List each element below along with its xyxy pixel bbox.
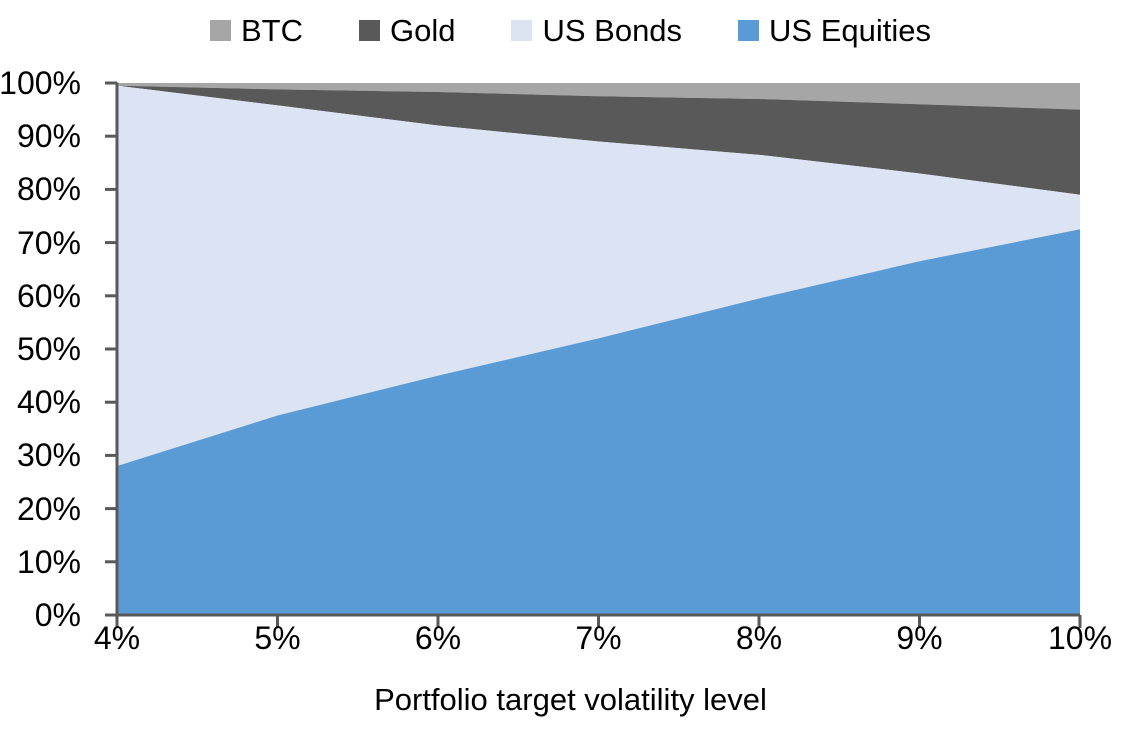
y-axis-tick-label-70: 70% <box>17 227 81 259</box>
x-axis-tick-label-4: 4% <box>94 622 140 654</box>
legend-item-us-equities[interactable]: US Equities <box>738 15 931 46</box>
x-axis-tick-label-8: 8% <box>736 622 782 654</box>
stacked-area-plot <box>0 52 1141 742</box>
chart-legend: BTCGoldUS BondsUS Equities <box>0 8 1141 52</box>
legend-label-us-equities: US Equities <box>769 15 931 46</box>
y-axis-tick-label-80: 80% <box>17 173 81 205</box>
x-axis-tick-label-6: 6% <box>415 622 461 654</box>
legend-item-btc[interactable]: BTC <box>210 15 303 46</box>
y-axis-tick-label-0: 0% <box>35 599 81 631</box>
legend-item-us-bonds[interactable]: US Bonds <box>511 15 682 46</box>
legend-label-us-bonds: US Bonds <box>542 15 682 46</box>
y-axis-tick-label-30: 30% <box>17 439 81 471</box>
x-axis-tick-label-7: 7% <box>575 622 621 654</box>
legend-item-gold[interactable]: Gold <box>359 15 455 46</box>
y-axis-tick-label-60: 60% <box>17 280 81 312</box>
chart-area: 0%10%20%30%40%50%60%70%80%90%100%4%5%6%7… <box>0 52 1141 742</box>
legend-swatch-gold <box>359 20 380 41</box>
x-axis-tick-label-5: 5% <box>254 622 300 654</box>
legend-swatch-us-equities <box>738 20 759 41</box>
y-axis-tick-label-20: 20% <box>17 493 81 525</box>
y-axis-tick-label-90: 90% <box>17 120 81 152</box>
y-axis-tick-label-10: 10% <box>17 546 81 578</box>
x-axis-tick-label-10: 10% <box>1048 622 1112 654</box>
legend-swatch-us-bonds <box>511 20 532 41</box>
y-axis-tick-label-50: 50% <box>17 333 81 365</box>
x-axis-title: Portfolio target volatility level <box>0 684 1141 715</box>
x-axis-tick-label-9: 9% <box>896 622 942 654</box>
legend-label-gold: Gold <box>390 15 455 46</box>
legend-swatch-btc <box>210 20 231 41</box>
y-axis-tick-label-40: 40% <box>17 386 81 418</box>
legend-label-btc: BTC <box>241 15 303 46</box>
y-axis-tick-label-100: 100% <box>0 67 81 99</box>
